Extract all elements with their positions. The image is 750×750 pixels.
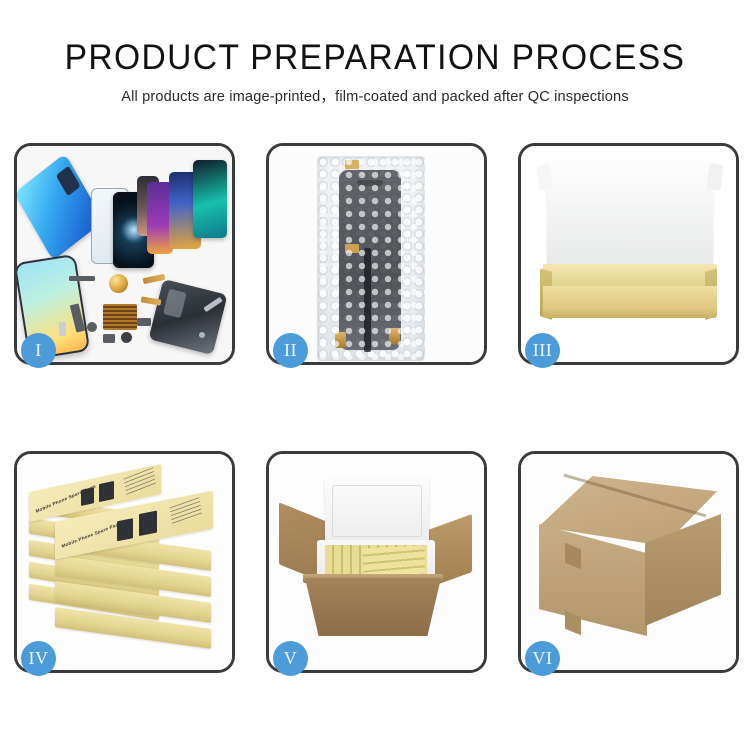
logic-board-icon [103, 304, 137, 330]
box-spec-lines-rear [123, 467, 156, 497]
phone-teal-icon [193, 160, 227, 238]
connector-icon [103, 334, 115, 343]
speaker-module-icon [109, 274, 128, 293]
inner-box-illustration [521, 146, 736, 362]
phones-and-parts-illustration [17, 146, 232, 362]
product-preparation-infographic: PRODUCT PREPARATION PROCESS All products… [0, 0, 750, 750]
header: PRODUCT PREPARATION PROCESS All products… [0, 0, 750, 106]
step-image-1 [17, 146, 232, 362]
small-screw-icon [199, 332, 205, 338]
step-panel-5: V [266, 451, 487, 673]
step-image-2 [269, 146, 484, 362]
yellow-kraft-box-icon [543, 286, 717, 318]
earpiece-mesh-icon [69, 276, 95, 281]
box-label-front: Mobile Phone Spare Parts [61, 521, 122, 549]
step-panel-3: III [518, 143, 739, 365]
sealed-carton-illustration [521, 454, 736, 670]
step-badge-6: VI [525, 641, 560, 676]
step-badge-4: IV [21, 641, 56, 676]
vibration-motor-icon [87, 322, 97, 332]
carton-body-icon [305, 578, 441, 636]
stacked-boxes-illustration: Mobile Phone Spare Parts Mobile Pho [17, 454, 232, 670]
box-spec-lines-front [170, 497, 203, 527]
step-panel-1: I [14, 143, 235, 365]
step-badge-2: II [273, 333, 308, 368]
box-product-image-4 [139, 511, 157, 536]
button-icon [121, 332, 132, 343]
box-product-image-3 [117, 518, 133, 541]
step-panel-2: II [266, 143, 487, 365]
bubble-wrapped-screen-illustration [269, 146, 484, 362]
screw-icon [59, 322, 66, 336]
step-badge-3: III [525, 333, 560, 368]
bubble-texture-overlay [317, 156, 425, 361]
box-product-image-1 [81, 487, 94, 506]
step-badge-1: I [21, 333, 56, 368]
styrofoam-lid-icon [325, 478, 429, 544]
step-image-6 [521, 454, 736, 670]
bubble-wrap-bag-icon [317, 156, 425, 361]
step-image-5 [269, 454, 484, 670]
box-top-edge-icon [543, 264, 717, 288]
box-stack: Mobile Phone Spare Parts Mobile Pho [25, 476, 225, 656]
step-image-3 [521, 146, 736, 362]
page-subtitle: All products are image-printed，film-coat… [0, 85, 750, 106]
step-panel-4: Mobile Phone Spare Parts Mobile Pho [14, 451, 235, 673]
page-title: PRODUCT PREPARATION PROCESS [15, 40, 735, 76]
sim-tray-icon [137, 318, 151, 326]
carton-loading-illustration [269, 454, 484, 670]
process-steps-grid: I II [14, 143, 739, 673]
step-badge-5: V [273, 641, 308, 676]
step-panel-6: VI [518, 451, 739, 673]
phone-chassis-icon [148, 279, 227, 355]
box-product-image-2 [99, 481, 114, 502]
foam-sheet-icon [547, 162, 713, 278]
step-image-4: Mobile Phone Spare Parts Mobile Pho [17, 454, 232, 670]
